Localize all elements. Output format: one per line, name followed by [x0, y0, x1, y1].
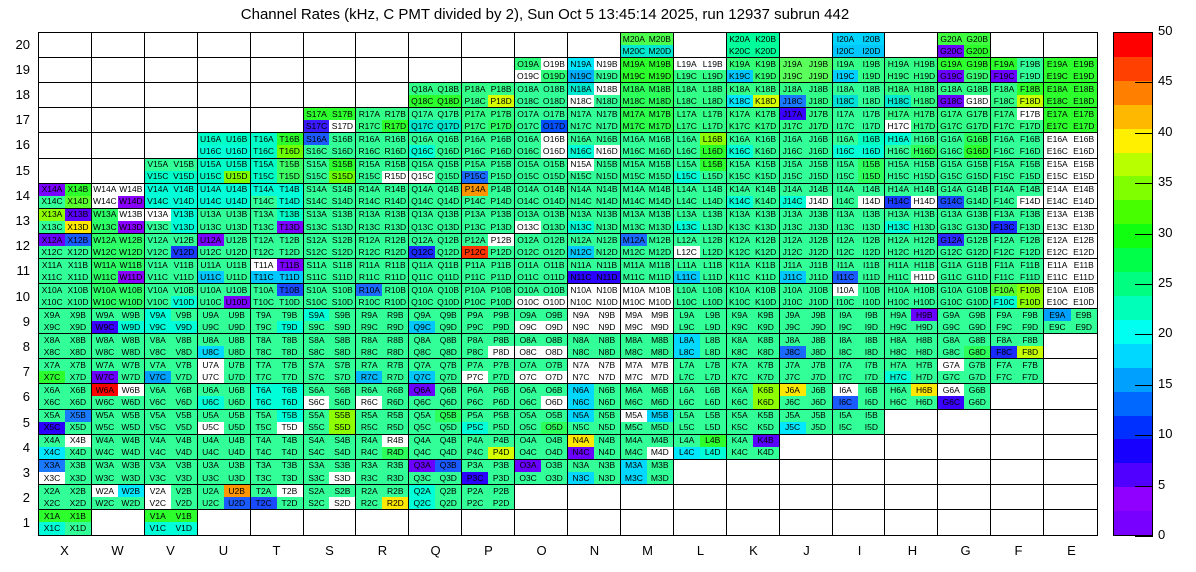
channel-O5A: O5A [515, 410, 541, 422]
heatmap-cell-J1 [780, 510, 833, 535]
channel-M17A: M17A [621, 108, 647, 120]
channel-M8B: M8B [647, 334, 673, 346]
heatmap-cell-I14: I14AI14BI14CI14D [833, 184, 886, 209]
channel-K1D [753, 522, 779, 535]
heatmap-cell-V8: V8AV8BV8CV8D [145, 334, 198, 359]
channel-L18C: L18C [674, 95, 700, 107]
channel-N18C: N18C [568, 95, 594, 107]
channel-R12D: R12D [382, 246, 408, 258]
channel-M5D: M5D [647, 422, 673, 434]
channel-T5C: T5C [251, 422, 277, 434]
channel-M2C [621, 497, 647, 509]
channel-P5D: P5D [488, 422, 514, 434]
channel-E9B: E9B [1071, 309, 1097, 321]
channel-S1C [304, 522, 330, 535]
channel-H15B: H15B [911, 159, 937, 171]
channel-W15B [118, 159, 144, 171]
channel-I7A: I7A [833, 359, 859, 371]
colorbar-tick-mark-35 [1135, 183, 1153, 184]
heatmap-cell-N4: N4AN4BN4CN4D [568, 435, 621, 460]
heatmap-cell-O12: O12AO12BO12CO12D [515, 234, 568, 259]
channel-F15A: F15A [991, 159, 1017, 171]
heatmap-cell-W2: W2AW2BW2CW2D [92, 485, 145, 510]
channel-P15A: P15A [462, 159, 488, 171]
channel-K9D: K9D [753, 321, 779, 333]
heatmap-cell-S6: S6AS6BS6CS6D [304, 384, 357, 409]
heatmap-cell-L6: L6AL6BL6CL6D [674, 384, 727, 409]
channel-N19C: N19C [568, 70, 594, 82]
channel-U4C: U4C [198, 447, 224, 459]
channel-Q20B [435, 33, 461, 45]
channel-E13C: E13C [1044, 221, 1070, 233]
channel-L12B: L12B [700, 234, 726, 246]
channel-R12C: R12C [356, 246, 382, 258]
channel-L20C [674, 45, 700, 57]
channel-M9D: M9D [647, 321, 673, 333]
heatmap-cell-Q5: Q5AQ5BQ5CQ5D [409, 410, 462, 435]
channel-I16A: I16A [833, 133, 859, 145]
channel-N1D [594, 522, 620, 535]
channel-V16A [145, 133, 171, 145]
channel-P4C: P4C [462, 447, 488, 459]
channel-G17D: G17D [964, 120, 990, 132]
channel-P6B: P6B [488, 384, 514, 396]
channel-X2B: X2B [65, 485, 91, 497]
channel-W3A: W3A [92, 460, 118, 472]
channel-U12D: U12D [224, 246, 250, 258]
channel-Q12C: Q12C [409, 246, 435, 258]
channel-E16B: E16B [1071, 133, 1097, 145]
channel-T20A [251, 33, 277, 45]
channel-Q18D: Q18D [435, 95, 461, 107]
heatmap-cell-I11: I11AI11BI11CI11D [833, 259, 886, 284]
channel-R16A: R16A [356, 133, 382, 145]
channel-S17A: S17A [304, 108, 330, 120]
heatmap-cell-U19 [198, 58, 251, 83]
channel-W10C: W10C [92, 296, 118, 308]
heatmap-cell-T10: T10AT10BT10CT10D [251, 284, 304, 309]
channel-M13B: M13B [647, 209, 673, 221]
channel-Q2A: Q2A [409, 485, 435, 497]
channel-T7D: T7D [277, 371, 303, 383]
channel-T6C: T6C [251, 396, 277, 408]
channel-S3B: S3B [329, 460, 355, 472]
channel-V9C: V9C [145, 321, 171, 333]
channel-H10D: H10D [911, 296, 937, 308]
channel-F9D: F9D [1017, 321, 1043, 333]
channel-K3B [753, 460, 779, 472]
channel-F4D [1017, 447, 1043, 459]
channel-U12A: U12A [198, 234, 224, 246]
channel-O18C: O18C [515, 95, 541, 107]
channel-H19B: H19B [911, 58, 937, 70]
channel-H13D: H13D [911, 221, 937, 233]
channel-P13A: P13A [462, 209, 488, 221]
heatmap-cell-V11: V11AV11BV11CV11D [145, 259, 198, 284]
channel-S8A: S8A [304, 334, 330, 346]
heatmap-cell-Q10: Q10AQ10BQ10CQ10D [409, 284, 462, 309]
channel-P7C: P7C [462, 371, 488, 383]
channel-N19D: N19D [594, 70, 620, 82]
channel-M9C: M9C [621, 321, 647, 333]
channel-V20D [171, 45, 197, 57]
channel-W13A: W13A [92, 209, 118, 221]
channel-H18A: H18A [885, 83, 911, 95]
channel-S7D: S7D [329, 371, 355, 383]
channel-I1B [858, 510, 884, 523]
channel-R3D: R3D [382, 472, 408, 484]
heatmap-cell-N17: N17AN17BN17CN17D [568, 108, 621, 133]
channel-Q11B: Q11B [435, 259, 461, 271]
heatmap-cell-O6: O6AO6BO6CO6D [515, 384, 568, 409]
heatmap-cell-J10: J10AJ10BJ10CJ10D [780, 284, 833, 309]
colorbar-tick-label-35: 35 [1158, 174, 1172, 189]
channel-T3A: T3A [251, 460, 277, 472]
channel-S19C [304, 70, 330, 82]
channel-I17B: I17B [858, 108, 884, 120]
colorbar-band-3 [1114, 439, 1152, 463]
channel-S2B: S2B [329, 485, 355, 497]
channel-G2B [964, 485, 990, 497]
channel-R16C: R16C [356, 145, 382, 157]
channel-X4B: X4B [65, 435, 91, 447]
channel-T5A: T5A [251, 410, 277, 422]
y-tick-3: 3 [0, 465, 30, 480]
channel-W8C: W8C [92, 346, 118, 358]
channel-H11B: H11B [911, 259, 937, 271]
channel-Q2D: Q2D [435, 497, 461, 509]
channel-L3B [700, 460, 726, 472]
channel-K17D: K17D [753, 120, 779, 132]
channel-F7A: F7A [991, 359, 1017, 371]
channel-K4D: K4D [753, 447, 779, 459]
heatmap-cell-J9: J9AJ9BJ9CJ9D [780, 309, 833, 334]
channel-N20C [568, 45, 594, 57]
channel-F10A: F10A [991, 284, 1017, 296]
channel-P8A: P8A [462, 334, 488, 346]
heatmap-cell-R2: R2AR2BR2CR2D [356, 485, 409, 510]
channel-O19B: O19B [541, 58, 567, 70]
channel-V3A: V3A [145, 460, 171, 472]
heatmap-cell-G12: G12AG12BG12CG12D [938, 234, 991, 259]
channel-N10D: N10D [594, 296, 620, 308]
channel-S7B: S7B [329, 359, 355, 371]
channel-J8A: J8A [780, 334, 806, 346]
channel-J8C: J8C [780, 346, 806, 358]
heatmap-cell-F10: F10AF10BF10CF10D [991, 284, 1044, 309]
heatmap-cell-Q19 [409, 58, 462, 83]
heatmap-cell-R9: R9AR9BR9CR9D [356, 309, 409, 334]
heatmap-cell-T3: T3AT3BT3CT3D [251, 460, 304, 485]
channel-R18C [356, 95, 382, 107]
channel-V17A [145, 108, 171, 120]
channel-O7C: O7C [515, 371, 541, 383]
channel-W18D [118, 95, 144, 107]
channel-P5B: P5B [488, 410, 514, 422]
channel-M2A [621, 485, 647, 497]
channel-K14D: K14D [753, 196, 779, 208]
heatmap-cell-N5: N5AN5BN5CN5D [568, 410, 621, 435]
channel-N10A: N10A [568, 284, 594, 296]
channel-L2D [700, 497, 726, 509]
channel-G16D: G16D [964, 145, 990, 157]
heatmap-cell-M12: M12AM12BM12CM12D [621, 234, 674, 259]
heatmap-cell-J2 [780, 485, 833, 510]
heatmap-cell-G16: G16AG16BG16CG16D [938, 133, 991, 158]
channel-G9B: G9B [964, 309, 990, 321]
channel-W14C: W14C [92, 196, 118, 208]
y-tick-8: 8 [0, 339, 30, 354]
channel-Q17D: Q17D [435, 120, 461, 132]
heatmap-cell-X7: X7AX7BX7CX7D [39, 359, 92, 384]
heatmap-cell-J18: J18AJ18BJ18CJ18D [780, 83, 833, 108]
heatmap-cell-R10: R10AR10BR10CR10D [356, 284, 409, 309]
channel-G8C: G8C [938, 346, 964, 358]
channel-S9A: S9A [304, 309, 330, 321]
channel-K16A: K16A [727, 133, 753, 145]
channel-G20A: G20A [938, 33, 964, 45]
channel-O2A [515, 485, 541, 497]
channel-O18B: O18B [541, 83, 567, 95]
channel-R7C: R7C [356, 371, 382, 383]
channel-L5B: L5B [700, 410, 726, 422]
channel-L2A [674, 485, 700, 497]
heatmap-cell-V3: V3AV3BV3CV3D [145, 460, 198, 485]
channel-Q16B: Q16B [435, 133, 461, 145]
channel-T9D: T9D [277, 321, 303, 333]
channel-F5D [1017, 422, 1043, 434]
channel-H1D [911, 522, 937, 535]
heatmap-cell-X13: X13AX13BX13CX13D [39, 209, 92, 234]
heatmap-cell-T4: T4AT4BT4CT4D [251, 435, 304, 460]
channel-N12B: N12B [594, 234, 620, 246]
channel-E2D [1071, 497, 1097, 509]
channel-O15A: O15A [515, 159, 541, 171]
channel-G1A [938, 510, 964, 523]
channel-G19B: G19B [964, 58, 990, 70]
channel-V15C: V15C [145, 171, 171, 183]
channel-I2B [858, 485, 884, 497]
heatmap-cell-R11: R11AR11BR11CR11D [356, 259, 409, 284]
channel-J1D [806, 522, 832, 535]
heatmap-cell-W3: W3AW3BW3CW3D [92, 460, 145, 485]
heatmap-cell-J13: J13AJ13BJ13CJ13D [780, 209, 833, 234]
channel-J7A: J7A [780, 359, 806, 371]
channel-G9D: G9D [964, 321, 990, 333]
channel-V6D: V6D [171, 396, 197, 408]
channel-V10C: V10C [145, 296, 171, 308]
channel-U15D: U15D [224, 171, 250, 183]
channel-N20A [568, 33, 594, 45]
channel-L6B: L6B [700, 384, 726, 396]
channel-O4C: O4C [515, 447, 541, 459]
heatmap-cell-S3: S3AS3BS3CS3D [304, 460, 357, 485]
channel-H14D: H14D [911, 196, 937, 208]
channel-I4D [858, 447, 884, 459]
channel-N7D: N7D [594, 371, 620, 383]
channel-G10C: G10C [938, 296, 964, 308]
channel-U6A: U6A [198, 384, 224, 396]
channel-T16B: T16B [277, 133, 303, 145]
channel-M16A: M16A [621, 133, 647, 145]
channel-F16D: F16D [1017, 145, 1043, 157]
heatmap-cell-O14: O14AO14BO14CO14D [515, 184, 568, 209]
channel-M10D: M10D [647, 296, 673, 308]
heatmap-cell-K6: K6AK6BK6CK6D [727, 384, 780, 409]
channel-X1B: X1B [65, 510, 91, 523]
channel-S11A: S11A [304, 259, 330, 271]
channel-R18A [356, 83, 382, 95]
channel-H19D: H19D [911, 70, 937, 82]
channel-L8C: L8C [674, 346, 700, 358]
channel-Q1B [435, 510, 461, 523]
channel-J17C: J17C [780, 120, 806, 132]
channel-U20D [224, 45, 250, 57]
channel-X14D: X14D [65, 196, 91, 208]
heatmap-cell-W20 [92, 33, 145, 58]
channel-H12C: H12C [885, 246, 911, 258]
channel-X11B: X11B [65, 259, 91, 271]
channel-T10A: T10A [251, 284, 277, 296]
channel-N8C: N8C [568, 346, 594, 358]
heatmap-cell-J8: J8AJ8BJ8CJ8D [780, 334, 833, 359]
channel-O6B: O6B [541, 384, 567, 396]
heatmap-cell-F1 [991, 510, 1044, 535]
channel-I16B: I16B [858, 133, 884, 145]
channel-U13A: U13A [198, 209, 224, 221]
channel-P9C: P9C [462, 321, 488, 333]
heatmap-cell-Q6: Q6AQ6BQ6CQ6D [409, 384, 462, 409]
channel-V8B: V8B [171, 334, 197, 346]
channel-O17A: O17A [515, 108, 541, 120]
heatmap-cell-K17: K17AK17BK17CK17D [727, 108, 780, 133]
channel-F14A: F14A [991, 184, 1017, 196]
channel-K19A: K19A [727, 58, 753, 70]
channel-W11D: W11D [118, 271, 144, 283]
colorbar-band-11 [1114, 248, 1152, 272]
channel-M17C: M17C [621, 120, 647, 132]
channel-K2B [753, 485, 779, 497]
channel-E16D: E16D [1071, 145, 1097, 157]
channel-J11A: J11A [780, 259, 806, 271]
heatmap-cell-M15: M15AM15BM15CM15D [621, 159, 674, 184]
channel-F8D: F8D [1017, 346, 1043, 358]
channel-P10B: P10B [488, 284, 514, 296]
channel-R6B: R6B [382, 384, 408, 396]
channel-U17D [224, 120, 250, 132]
channel-S3D: S3D [329, 472, 355, 484]
channel-S1A [304, 510, 330, 523]
channel-T16A: T16A [251, 133, 277, 145]
channel-F3A [991, 460, 1017, 472]
channel-E3B [1071, 460, 1097, 472]
channel-Q9C: Q9C [409, 321, 435, 333]
channel-O13C: O13C [515, 221, 541, 233]
channel-P8D: P8D [488, 346, 514, 358]
channel-R11C: R11C [356, 271, 382, 283]
heatmap-cell-H12: H12AH12BH12CH12D [885, 234, 938, 259]
channel-Q15C: Q15C [409, 171, 435, 183]
channel-M3D: M3D [647, 472, 673, 484]
channel-Q4B: Q4B [435, 435, 461, 447]
channel-E20B [1071, 33, 1097, 45]
channel-I6C: I6C [833, 396, 859, 408]
channel-Q1D [435, 522, 461, 535]
channel-E9C: E9C [1044, 321, 1070, 333]
channel-E4D [1071, 447, 1097, 459]
channel-M1A [621, 510, 647, 523]
channel-E4C [1044, 447, 1070, 459]
channel-O17D: O17D [541, 120, 567, 132]
channel-F17C: F17C [991, 120, 1017, 132]
channel-O5B: O5B [541, 410, 567, 422]
channel-E3C [1044, 472, 1070, 484]
channel-U1B [224, 510, 250, 523]
channel-W13C: W13C [92, 221, 118, 233]
channel-W9B: W9B [118, 309, 144, 321]
channel-I1D [858, 522, 884, 535]
channel-V13B: V13B [171, 209, 197, 221]
y-tick-17: 17 [0, 112, 30, 127]
channel-R7A: R7A [356, 359, 382, 371]
channel-J5C: J5C [780, 422, 806, 434]
channel-U6D: U6D [224, 396, 250, 408]
channel-M13C: M13C [621, 221, 647, 233]
heatmap-cell-G10: G10AG10BG10CG10D [938, 284, 991, 309]
channel-J2C [780, 497, 806, 509]
channel-V18C [145, 95, 171, 107]
channel-E5D [1071, 422, 1097, 434]
channel-J19B: J19B [806, 58, 832, 70]
channel-L11A: L11A [674, 259, 700, 271]
channel-V5A: V5A [145, 410, 171, 422]
channel-T1A [251, 510, 277, 523]
channel-G7A: G7A [938, 359, 964, 371]
channel-K4A: K4A [727, 435, 753, 447]
channel-U14B: U14B [224, 184, 250, 196]
channel-E1B [1071, 510, 1097, 523]
channel-F3D [1017, 472, 1043, 484]
channel-P18C: P18C [462, 95, 488, 107]
colorbar-band-19 [1114, 57, 1152, 81]
channel-L19C: L19C [674, 70, 700, 82]
channel-M12D: M12D [647, 246, 673, 258]
channel-V5C: V5C [145, 422, 171, 434]
channel-H10B: H10B [911, 284, 937, 296]
channel-R3A: R3A [356, 460, 382, 472]
channel-I5B: I5B [858, 410, 884, 422]
channel-K6B: K6B [753, 384, 779, 396]
channel-O19A: O19A [515, 58, 541, 70]
channel-F14C: F14C [991, 196, 1017, 208]
heatmap-cell-J11: J11AJ11BJ11CJ11D [780, 259, 833, 284]
channel-Q4D: Q4D [435, 447, 461, 459]
channel-R6C: R6C [356, 396, 382, 408]
channel-E8B [1071, 334, 1097, 346]
heatmap-cell-J7: J7AJ7BJ7CJ7D [780, 359, 833, 384]
channel-S10B: S10B [329, 284, 355, 296]
channel-P16D: P16D [488, 145, 514, 157]
channel-F11D: F11D [1017, 271, 1043, 283]
heatmap-cell-R6: R6AR6BR6CR6D [356, 384, 409, 409]
heatmap-cell-P1 [462, 510, 515, 535]
heatmap-cell-F6 [991, 384, 1044, 409]
heatmap-cell-L20 [674, 33, 727, 58]
channel-S16C: S16C [304, 145, 330, 157]
channel-L4D: L4D [700, 447, 726, 459]
channel-F4C [991, 447, 1017, 459]
channel-J20C [780, 45, 806, 57]
